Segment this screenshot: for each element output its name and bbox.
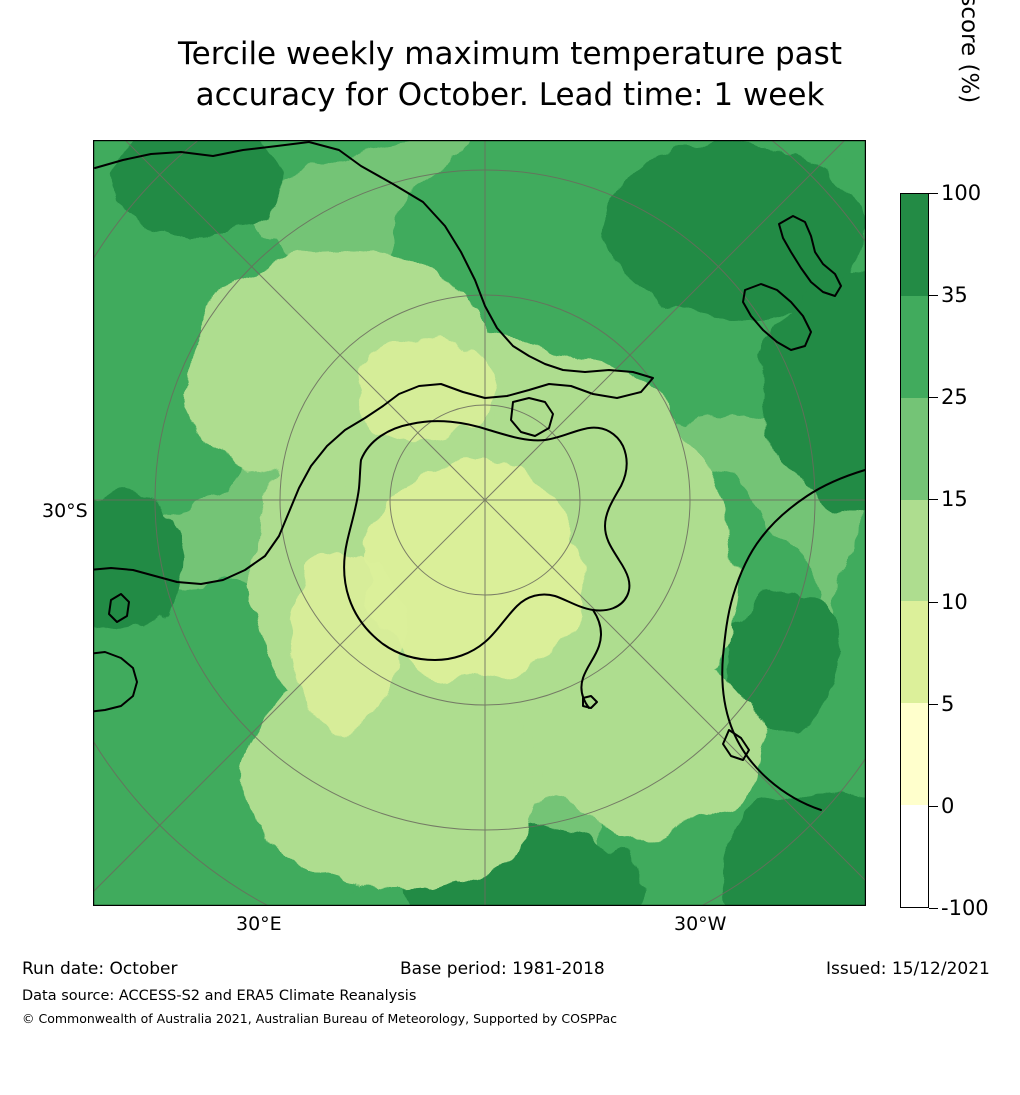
- colorbar: 1003525151050-100: [900, 193, 929, 908]
- xtick-label-30e: 30°E: [236, 913, 282, 935]
- footer-copyright: © Commonwealth of Australia 2021, Austra…: [22, 1011, 617, 1026]
- colorbar-band: [901, 703, 928, 805]
- colorbar-tick-mark: [929, 704, 938, 705]
- footer-primary-row: Run date: October Base period: 1981-2018…: [0, 959, 1020, 983]
- xtick-label-30w: 30°W: [674, 913, 726, 935]
- colorbar-tick-label: 0: [941, 794, 954, 818]
- colorbar-tick-label: 10: [941, 590, 968, 614]
- footer-base-period: Base period: 1981-2018: [400, 959, 605, 979]
- colorbar-tick-mark: [929, 602, 938, 603]
- colorbar-tick-mark: [929, 499, 938, 500]
- colorbar-band: [901, 296, 928, 398]
- colorbar-band: [901, 194, 928, 296]
- colorbar-ticks: 1003525151050-100: [929, 193, 1009, 908]
- colorbar-band: [901, 398, 928, 500]
- colorbar-tick-mark: [929, 295, 938, 296]
- map-svg: [93, 140, 866, 906]
- map-plot-area: [93, 140, 866, 906]
- colorbar-band: [901, 601, 928, 703]
- colorbar-tick-label: -100: [941, 896, 989, 920]
- skill-score-field: [93, 140, 866, 906]
- colorbar-tick-label: 25: [941, 385, 968, 409]
- colorbar-axis-label-text: Linear error in probability space skill …: [956, 0, 982, 193]
- colorbar-tick-label: 35: [941, 283, 968, 307]
- colorbar-tick-label: 5: [941, 692, 954, 716]
- footer-data-source: Data source: ACCESS-S2 and ERA5 Climate …: [22, 988, 416, 1004]
- colorbar-band: [901, 805, 928, 907]
- footer-run-date: Run date: October: [22, 959, 178, 979]
- colorbar-axis-label: Linear error in probability space skill …: [940, 0, 976, 193]
- colorbar-tick-mark: [929, 908, 938, 909]
- ytick-label-30s: 30°S: [42, 500, 88, 522]
- footer-issued-date: Issued: 15/12/2021: [826, 959, 990, 979]
- colorbar-band: [901, 500, 928, 602]
- colorbar-tick-mark: [929, 806, 938, 807]
- colorbar-tick-label: 15: [941, 487, 968, 511]
- colorbar-tick-mark: [929, 193, 938, 194]
- colorbar-tick-mark: [929, 397, 938, 398]
- page-title: Tercile weekly maximum temperature past …: [0, 34, 1020, 116]
- colorbar-gradient: [900, 193, 929, 908]
